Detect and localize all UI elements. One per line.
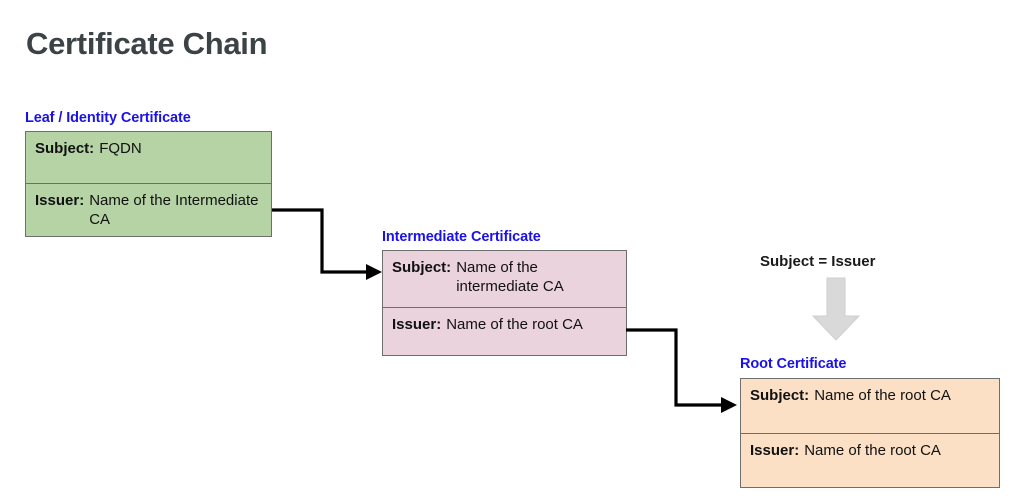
intermediate-certificate-caption: Intermediate Certificate: [382, 229, 541, 245]
leaf-issuer-value: Name of the Intermediate CA: [89, 191, 262, 229]
root-issuer-value: Name of the root CA: [804, 441, 941, 460]
intermediate-certificate-box: Subject: Name of the intermediate CA Iss…: [382, 250, 627, 356]
intermediate-subject-row: Subject: Name of the intermediate CA: [383, 251, 626, 308]
page-title: Certificate Chain: [26, 26, 267, 62]
down-arrow-icon: [805, 276, 867, 344]
intermediate-subject-label: Subject:: [392, 258, 451, 277]
root-subject-label: Subject:: [750, 386, 809, 405]
leaf-certificate-caption: Leaf / Identity Certificate: [25, 110, 191, 126]
leaf-issuer-label: Issuer:: [35, 191, 84, 210]
arrowhead-icon: [721, 397, 737, 413]
leaf-issuer-row: Issuer: Name of the Intermediate CA: [26, 184, 271, 236]
diagram-canvas: Certificate Chain Leaf / Identity Certif…: [0, 0, 1009, 498]
leaf-certificate-box: Subject: FQDN Issuer: Name of the Interm…: [25, 131, 272, 237]
arrowhead-icon: [366, 264, 382, 280]
root-issuer-row: Issuer: Name of the root CA: [741, 434, 999, 488]
root-certificate-caption: Root Certificate: [740, 356, 846, 372]
root-certificate-box: Subject: Name of the root CA Issuer: Nam…: [740, 378, 1000, 488]
leaf-subject-label: Subject:: [35, 139, 94, 158]
leaf-subject-value: FQDN: [99, 139, 142, 158]
root-subject-value: Name of the root CA: [814, 386, 951, 405]
intermediate-issuer-label: Issuer:: [392, 315, 441, 334]
root-subject-row: Subject: Name of the root CA: [741, 379, 999, 434]
connector-intermediate-to-root: [624, 320, 749, 420]
subject-equals-issuer-label: Subject = Issuer: [760, 253, 875, 270]
root-issuer-label: Issuer:: [750, 441, 799, 460]
intermediate-issuer-row: Issuer: Name of the root CA: [383, 308, 626, 355]
intermediate-issuer-value: Name of the root CA: [446, 315, 583, 334]
intermediate-subject-value: Name of the intermediate CA: [456, 258, 617, 296]
leaf-subject-row: Subject: FQDN: [26, 132, 271, 184]
connector-leaf-to-intermediate: [270, 200, 390, 290]
